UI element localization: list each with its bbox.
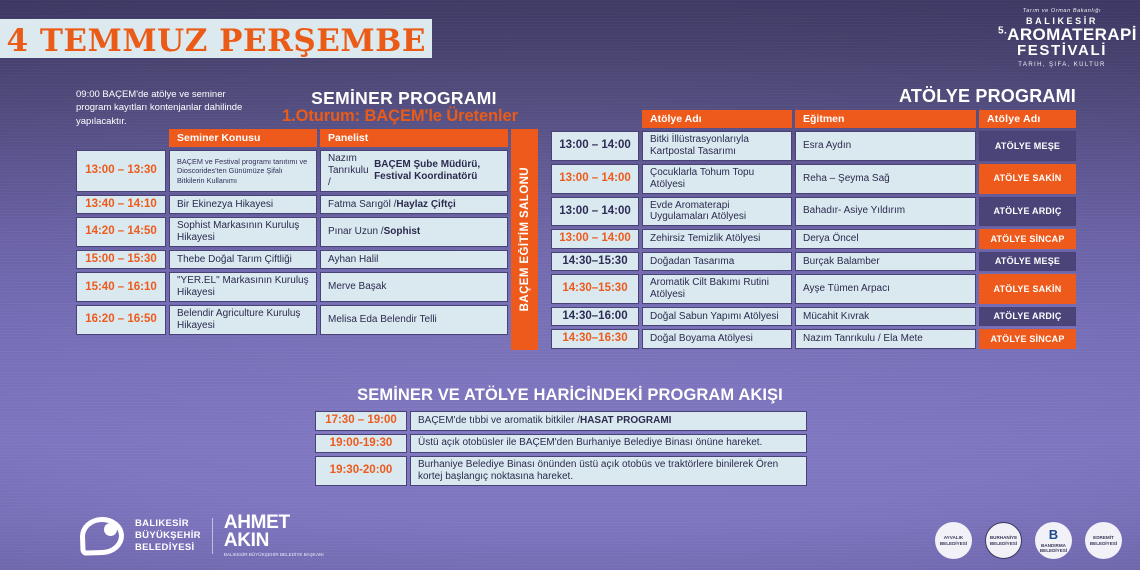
table-row: 13:00 – 14:00Evde Aromaterapi Uygulamala…: [551, 197, 1076, 227]
sponsor-logo: EDREMİTBELEDİYESİ: [1085, 522, 1122, 559]
panelist-name: Ayhan Halil: [328, 254, 378, 266]
seminar-header-spacer: [76, 129, 166, 147]
seminar-row-time: 14:20 – 14:50: [76, 217, 166, 247]
seminar-row-time: 15:00 – 15:30: [76, 250, 166, 270]
heart-icon: [80, 517, 124, 555]
workshop-row-time: 14:30–16:30: [551, 329, 639, 349]
table-row: 13:40 – 14:10Bir Ekinezya HikayesiFatma …: [76, 195, 508, 215]
sponsor-name: B: [1038, 528, 1069, 543]
workshop-row-hall: ATÖLYE MEŞE: [979, 131, 1076, 161]
seminar-row-panelist: Melisa Eda Belendir Telli: [320, 305, 508, 335]
workshop-header-hall: Atölye Adı: [979, 110, 1076, 128]
seminar-row-time: 16:20 – 16:50: [76, 305, 166, 335]
panelist-name: Fatma Sarıgöl /: [328, 199, 396, 211]
workshop-table-header-row: Atölye Adı Eğitmen Atölye Adı: [551, 110, 1076, 128]
workshop-row-hall: ATÖLYE SİNCAP: [979, 329, 1076, 349]
date-title: 4 TEMMUZ PERŞEMBE: [6, 23, 426, 59]
workshop-header-name: Atölye Adı: [642, 110, 792, 128]
festival-logo-arc-bottom: TARİH, ŞİFA, KÜLTÜR: [998, 62, 1126, 68]
seminar-row-panelist: Nazım Tanrıkulu / BAÇEM Şube Müdürü, Fes…: [320, 150, 508, 191]
workshop-row-name: Evde Aromaterapi Uygulamaları Atölyesi: [642, 197, 792, 227]
workshop-row-hall: ATÖLYE ARDIÇ: [979, 197, 1076, 227]
flow-row-description: BAÇEM'de tıbbi ve aromatik bitkiler / HA…: [410, 411, 807, 431]
workshop-row-name: Doğadan Tasarıma: [642, 252, 792, 272]
table-row: 19:00-19:30Üstü açık otobüsler ile BAÇEM…: [315, 434, 807, 454]
seminar-hall-label: BAÇEM EĞİTİM SALONU: [511, 129, 538, 350]
workshop-row-trainer: Burçak Balamber: [795, 252, 976, 272]
workshop-table: Atölye Adı Eğitmen Atölye Adı 13:00 – 14…: [551, 110, 1076, 349]
festival-logo-arc-top: Tarım ve Orman Bakanlığı: [998, 8, 1126, 14]
workshop-row-time: 14:30–16:00: [551, 307, 639, 327]
municipality-logo: BALIKESİR BÜYÜKŞEHİR BELEDİYESİ AHMET AK…: [80, 514, 324, 558]
flow-description-text: Üstü açık otobüsler ile BAÇEM'den Burhan…: [418, 437, 762, 449]
panelist-name: Pınar Uzun /: [328, 226, 384, 238]
workshop-program-heading: ATÖLYE PROGRAMI: [899, 86, 1076, 107]
municipality-line-3: BELEDİYESİ: [135, 542, 201, 554]
table-row: 13:00 – 14:00Bitki İllüstrasyonlarıyla K…: [551, 131, 1076, 161]
festival-logo-festival: FESTİVALİ: [998, 43, 1126, 59]
sponsor-logo: AYVALIKBELEDİYESİ: [935, 522, 972, 559]
workshop-row-hall: ATÖLYE ARDIÇ: [979, 307, 1076, 327]
seminar-row-panelist: Pınar Uzun / Sophist: [320, 217, 508, 247]
date-banner: 4 TEMMUZ PERŞEMBE: [0, 19, 432, 58]
sponsor-logo: BURHANİYEBELEDİYESİ: [985, 522, 1022, 559]
panelist-affiliation: Haylaz Çiftçi: [396, 199, 455, 211]
sponsor-name: EDREMİT: [1090, 535, 1117, 540]
mayor-logo: AHMET AKIN BALIKESİR BÜYÜKŞEHİR BELEDİYE…: [224, 514, 324, 558]
workshop-row-trainer: Nazım Tanrıkulu / Ela Mete: [795, 329, 976, 349]
sponsor-subtitle: BELEDİYESİ: [1090, 541, 1117, 546]
seminar-session-subheading: 1.Oturum: BAÇEM'le Üretenler: [250, 107, 550, 126]
workshop-row-name: Doğal Boyama Atölyesi: [642, 329, 792, 349]
workshop-row-trainer: Reha – Şeyma Sağ: [795, 164, 976, 194]
municipality-name: BALIKESİR BÜYÜKŞEHİR BELEDİYESİ: [135, 518, 201, 553]
workshop-row-time: 14:30–15:30: [551, 252, 639, 272]
workshop-row-trainer: Mücahit Kıvrak: [795, 307, 976, 327]
workshop-row-name: Çocuklarla Tohum Topu Atölyesi: [642, 164, 792, 194]
workshop-row-time: 13:00 – 14:00: [551, 229, 639, 249]
table-row: 13:00 – 14:00Zehirsiz Temizlik AtölyesiD…: [551, 229, 1076, 249]
panelist-affiliation: Sophist: [384, 226, 421, 238]
seminar-row-topic: Sophist Markasının Kuruluş Hikayesi: [169, 217, 317, 247]
workshop-row-time: 14:30–15:30: [551, 274, 639, 304]
registration-note: 09:00 BAÇEM'de atölye ve seminer program…: [76, 88, 256, 128]
flow-row-description: Burhaniye Belediye Binası önünden üstü a…: [410, 456, 807, 486]
workshop-row-name: Zehirsiz Temizlik Atölyesi: [642, 229, 792, 249]
mayor-title: BALIKESİR BÜYÜKŞEHİR BELEDİYE BAŞKANI: [224, 552, 324, 558]
sponsor-logo: BBANDIRMA BELEDİYESİ: [1035, 522, 1072, 559]
sponsor-logo-text: BURHANİYEBELEDİYESİ: [990, 535, 1017, 546]
panelist-affiliation: BAÇEM Şube Müdürü, Festival Koordinatörü: [374, 159, 500, 183]
seminar-row-panelist: Fatma Sarıgöl / Haylaz Çiftçi: [320, 195, 508, 215]
flow-row-description: Üstü açık otobüsler ile BAÇEM'den Burhan…: [410, 434, 807, 454]
seminar-row-time: 15:40 – 16:10: [76, 272, 166, 302]
table-row: 16:20 – 16:50Belendir Agriculture Kurulu…: [76, 305, 508, 335]
table-row: 14:30–15:30Doğadan TasarımaBurçak Balamb…: [551, 252, 1076, 272]
seminar-row-panelist: Ayhan Halil: [320, 250, 508, 270]
sponsor-subtitle: BELEDİYESİ: [940, 541, 967, 546]
seminar-table-header-row: Seminer Konusu Panelist: [76, 129, 508, 147]
sponsor-name: AYVALIK: [940, 535, 967, 540]
table-row: 14:20 – 14:50Sophist Markasının Kuruluş …: [76, 217, 508, 247]
table-row: 13:00 – 13:30BAÇEM ve Festival programı …: [76, 150, 508, 191]
festival-logo: Tarım ve Orman Bakanlığı BALIKESİR 5.ARO…: [998, 4, 1126, 84]
seminar-table: Seminer Konusu Panelist 13:00 – 13:30BAÇ…: [76, 129, 508, 335]
seminar-hall-label-text: BAÇEM EĞİTİM SALONU: [519, 167, 531, 311]
table-row: 13:00 – 14:00Çocuklarla Tohum Topu Atöly…: [551, 164, 1076, 194]
table-row: 19:30-20:00Burhaniye Belediye Binası önü…: [315, 456, 807, 486]
flow-description-text: BAÇEM'de tıbbi ve aromatik bitkiler /: [418, 415, 580, 427]
workshop-row-hall: ATÖLYE SİNCAP: [979, 229, 1076, 249]
table-row: 14:30–16:00Doğal Sabun Yapımı AtölyesiMü…: [551, 307, 1076, 327]
sponsor-name: BURHANİYE: [990, 535, 1017, 540]
workshop-row-trainer: Ayşe Tümen Arpacı: [795, 274, 976, 304]
festival-logo-name: 5.AROMATERAPİ: [998, 26, 1126, 43]
sponsor-logos: AYVALIKBELEDİYESİBURHANİYEBELEDİYESİBBAN…: [935, 522, 1122, 559]
festival-logo-name-text: AROMATERAPİ: [1007, 25, 1137, 44]
table-row: 14:30–15:30Aromatik Cilt Bakımı Rutini A…: [551, 274, 1076, 304]
workshop-row-trainer: Bahadır- Asiye Yıldırım: [795, 197, 976, 227]
seminar-row-topic: Bir Ekinezya Hikayesi: [169, 195, 317, 215]
seminar-row-topic: "YER.EL" Markasının Kuruluş Hikayesi: [169, 272, 317, 302]
mayor-last-name: AKIN: [224, 532, 324, 550]
flow-description-text: Burhaniye Belediye Binası önünden üstü a…: [418, 459, 799, 483]
seminar-row-topic: Thebe Doğal Tarım Çiftliği: [169, 250, 317, 270]
table-row: 15:40 – 16:10"YER.EL" Markasının Kuruluş…: [76, 272, 508, 302]
table-row: 15:00 – 15:30Thebe Doğal Tarım ÇiftliğiA…: [76, 250, 508, 270]
sponsor-logo-text: EDREMİTBELEDİYESİ: [1090, 535, 1117, 546]
workshop-row-name: Bitki İllüstrasyonlarıyla Kartpostal Tas…: [642, 131, 792, 161]
sponsor-subtitle: BANDIRMA BELEDİYESİ: [1038, 543, 1069, 554]
seminar-header-panelist: Panelist: [320, 129, 508, 147]
workshop-row-name: Doğal Sabun Yapımı Atölyesi: [642, 307, 792, 327]
workshop-row-trainer: Derya Öncel: [795, 229, 976, 249]
workshop-row-time: 13:00 – 14:00: [551, 131, 639, 161]
flow-row-time: 19:00-19:30: [315, 434, 407, 454]
flow-row-time: 17:30 – 19:00: [315, 411, 407, 431]
logo-divider: [212, 518, 213, 554]
flow-description-emphasis: HASAT PROGRAMI: [580, 415, 671, 427]
table-row: 17:30 – 19:00BAÇEM'de tıbbi ve aromatik …: [315, 411, 807, 431]
workshop-row-hall: ATÖLYE SAKİN: [979, 274, 1076, 304]
seminar-row-time: 13:40 – 14:10: [76, 195, 166, 215]
municipality-line-1: BALIKESİR: [135, 518, 201, 530]
sponsor-subtitle: BELEDİYESİ: [990, 541, 1017, 546]
workshop-row-hall: ATÖLYE SAKİN: [979, 164, 1076, 194]
seminar-row-topic: Belendir Agriculture Kuruluş Hikayesi: [169, 305, 317, 335]
sponsor-logo-text: AYVALIKBELEDİYESİ: [940, 535, 967, 546]
municipality-line-2: BÜYÜKŞEHİR: [135, 530, 201, 542]
festival-logo-ordinal: 5.: [998, 25, 1007, 36]
workshop-row-hall: ATÖLYE MEŞE: [979, 252, 1076, 272]
workshop-row-name: Aromatik Cilt Bakımı Rutini Atölyesi: [642, 274, 792, 304]
program-flow-table: 17:30 – 19:00BAÇEM'de tıbbi ve aromatik …: [315, 411, 807, 486]
workshop-row-time: 13:00 – 14:00: [551, 197, 639, 227]
table-row: 14:30–16:30Doğal Boyama AtölyesiNazım Ta…: [551, 329, 1076, 349]
workshop-row-time: 13:00 – 14:00: [551, 164, 639, 194]
sponsor-logo-text: BBANDIRMA BELEDİYESİ: [1038, 528, 1069, 554]
heart-icon-shape: [79, 516, 124, 556]
panelist-name: Merve Başak: [328, 281, 386, 293]
program-flow-heading: SEMİNER VE ATÖLYE HARİCİNDEKİ PROGRAM AK…: [0, 386, 1140, 405]
flow-row-time: 19:30-20:00: [315, 456, 407, 486]
panelist-name: Melisa Eda Belendir Telli: [328, 314, 437, 326]
seminar-header-topic: Seminer Konusu: [169, 129, 317, 147]
workshop-header-spacer: [551, 110, 639, 128]
seminar-row-panelist: Merve Başak: [320, 272, 508, 302]
workshop-header-trainer: Eğitmen: [795, 110, 976, 128]
seminar-program-heading: SEMİNER PROGRAMI: [264, 88, 544, 109]
panelist-name: Nazım Tanrıkulu /: [328, 153, 374, 188]
seminar-row-topic: BAÇEM ve Festival programı tanıtımı ve D…: [169, 150, 317, 191]
heart-icon-dot: [104, 523, 117, 536]
workshop-row-trainer: Esra Aydın: [795, 131, 976, 161]
seminar-row-time: 13:00 – 13:30: [76, 150, 166, 191]
